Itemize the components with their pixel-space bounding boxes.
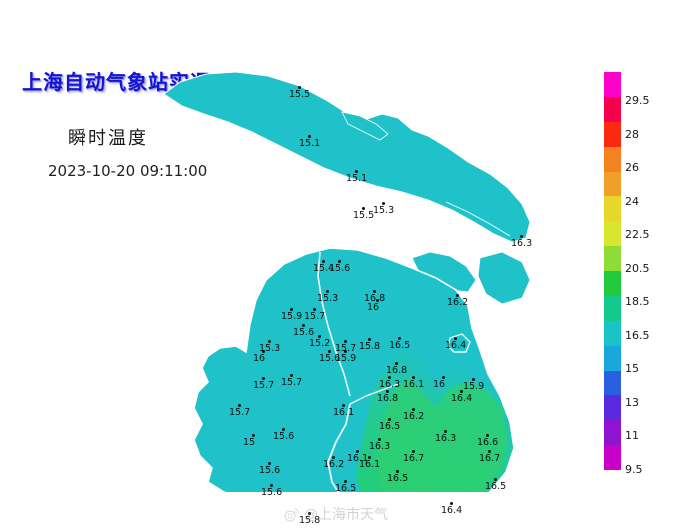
colorbar-segment — [604, 296, 621, 321]
station-temperature-label: 16.1 — [359, 460, 380, 470]
station-temperature-label: 16.4 — [451, 394, 472, 404]
hengsha-island-shape — [478, 252, 530, 304]
colorbar-segment — [604, 321, 621, 346]
colorbar-tick: 22.5 — [625, 228, 650, 241]
station-temperature-label: 16.1 — [403, 380, 424, 390]
station-temperature-label: 15.7 — [281, 378, 302, 388]
station-temperature-label: 15.7 — [253, 381, 274, 391]
station-temperature-label: 15.7 — [229, 408, 250, 418]
station-temperature-label: 16.5 — [379, 422, 400, 432]
station-temperature-label: 15.6 — [293, 328, 314, 338]
station-temperature-label: 16 — [253, 354, 265, 364]
colorbar-tick: 29.5 — [625, 94, 650, 107]
colorbar-segment — [604, 246, 621, 271]
colorbar-tick: 26 — [625, 161, 639, 174]
colorbar-tick: 13 — [625, 396, 639, 409]
colorbar-segment — [604, 420, 621, 445]
station-temperature-label: 16.5 — [485, 482, 506, 492]
station-temperature-label: 16.2 — [403, 412, 424, 422]
station-temperature-label: 15.1 — [299, 139, 320, 149]
station-temperature-label: 15.5 — [353, 211, 374, 221]
colorbar-segment — [604, 445, 621, 470]
station-temperature-label: 16.7 — [403, 454, 424, 464]
colorbar-segment — [604, 271, 621, 296]
watermark: @上海市天气 — [283, 504, 388, 524]
colorbar-segment — [604, 221, 621, 246]
station-temperature-label: 15.3 — [317, 294, 338, 304]
station-temperature-label: 15.5 — [289, 90, 310, 100]
colorbar-tick: 20.5 — [625, 262, 650, 275]
colorbar-segment — [604, 346, 621, 371]
station-temperature-label: 16.5 — [387, 474, 408, 484]
colorbar-segment — [604, 196, 621, 221]
colorbar-segment — [604, 122, 621, 147]
station-temperature-label: 16.2 — [323, 460, 344, 470]
colorbar-tick: 11 — [625, 429, 639, 442]
weibo-logo-icon — [283, 506, 300, 523]
station-temperature-label: 16.2 — [447, 298, 468, 308]
temperature-colorbar[interactable] — [604, 72, 621, 470]
station-temperature-label: 16.3 — [511, 239, 532, 249]
station-temperature-label: 16 — [433, 380, 445, 390]
station-temperature-label: 15.6 — [259, 466, 280, 476]
station-temperature-label: 16.1 — [333, 408, 354, 418]
station-temperature-label: 15.9 — [281, 312, 302, 322]
colorbar-segment — [604, 147, 621, 172]
station-temperature-label: 15.2 — [309, 339, 330, 349]
colorbar-segment — [604, 97, 621, 122]
station-temperature-label: 16.6 — [477, 438, 498, 448]
colorbar-segment — [604, 72, 621, 97]
station-temperature-label: 15.3 — [373, 206, 394, 216]
colorbar-tick-labels: 29.528262422.520.518.516.51513119.5 — [625, 72, 683, 470]
station-temperature-label: 16.8 — [386, 366, 407, 376]
weather-map-canvas: 上海自动气象站实况 瞬时温度 2023-10-20 09:11:00 — [0, 0, 690, 532]
shanghai-region-shapes — [150, 52, 570, 492]
map-area[interactable]: 15.515.115.115.515.316.315.415.615.315.9… — [150, 52, 570, 492]
colorbar-segment — [604, 395, 621, 420]
colorbar-tick: 18.5 — [625, 295, 650, 308]
station-temperature-label: 15.6 — [273, 432, 294, 442]
colorbar-segment — [604, 371, 621, 396]
watermark-text: @上海市天气 — [304, 504, 388, 524]
station-temperature-label: 15.9 — [335, 354, 356, 364]
station-temperature-label: 15.6 — [329, 264, 350, 274]
chart-subtitle: 瞬时温度 — [68, 124, 148, 150]
station-temperature-label: 16.5 — [389, 341, 410, 351]
station-temperature-label: 16.4 — [441, 506, 462, 516]
station-temperature-label: 16.3 — [379, 380, 400, 390]
colorbar-tick: 28 — [625, 128, 639, 141]
colorbar-segment — [604, 172, 621, 197]
station-temperature-label: 15 — [243, 438, 255, 448]
station-temperature-label: 15.8 — [359, 342, 380, 352]
station-temperature-label: 16 — [367, 303, 379, 313]
station-temperature-label: 16.5 — [335, 484, 356, 494]
station-temperature-label: 15.1 — [346, 174, 367, 184]
station-temperature-label: 16.3 — [435, 434, 456, 444]
station-temperature-label: 16.7 — [479, 454, 500, 464]
station-temperature-label: 15.9 — [463, 382, 484, 392]
colorbar-tick: 16.5 — [625, 329, 650, 342]
colorbar-tick: 9.5 — [625, 463, 643, 476]
station-temperature-label: 16.3 — [369, 442, 390, 452]
station-temperature-label: 15.6 — [261, 488, 282, 498]
station-temperature-label: 15.7 — [304, 312, 325, 322]
station-temperature-label: 16.8 — [377, 394, 398, 404]
colorbar-tick: 24 — [625, 195, 639, 208]
station-temperature-label: 16.4 — [445, 341, 466, 351]
colorbar-tick: 15 — [625, 362, 639, 375]
